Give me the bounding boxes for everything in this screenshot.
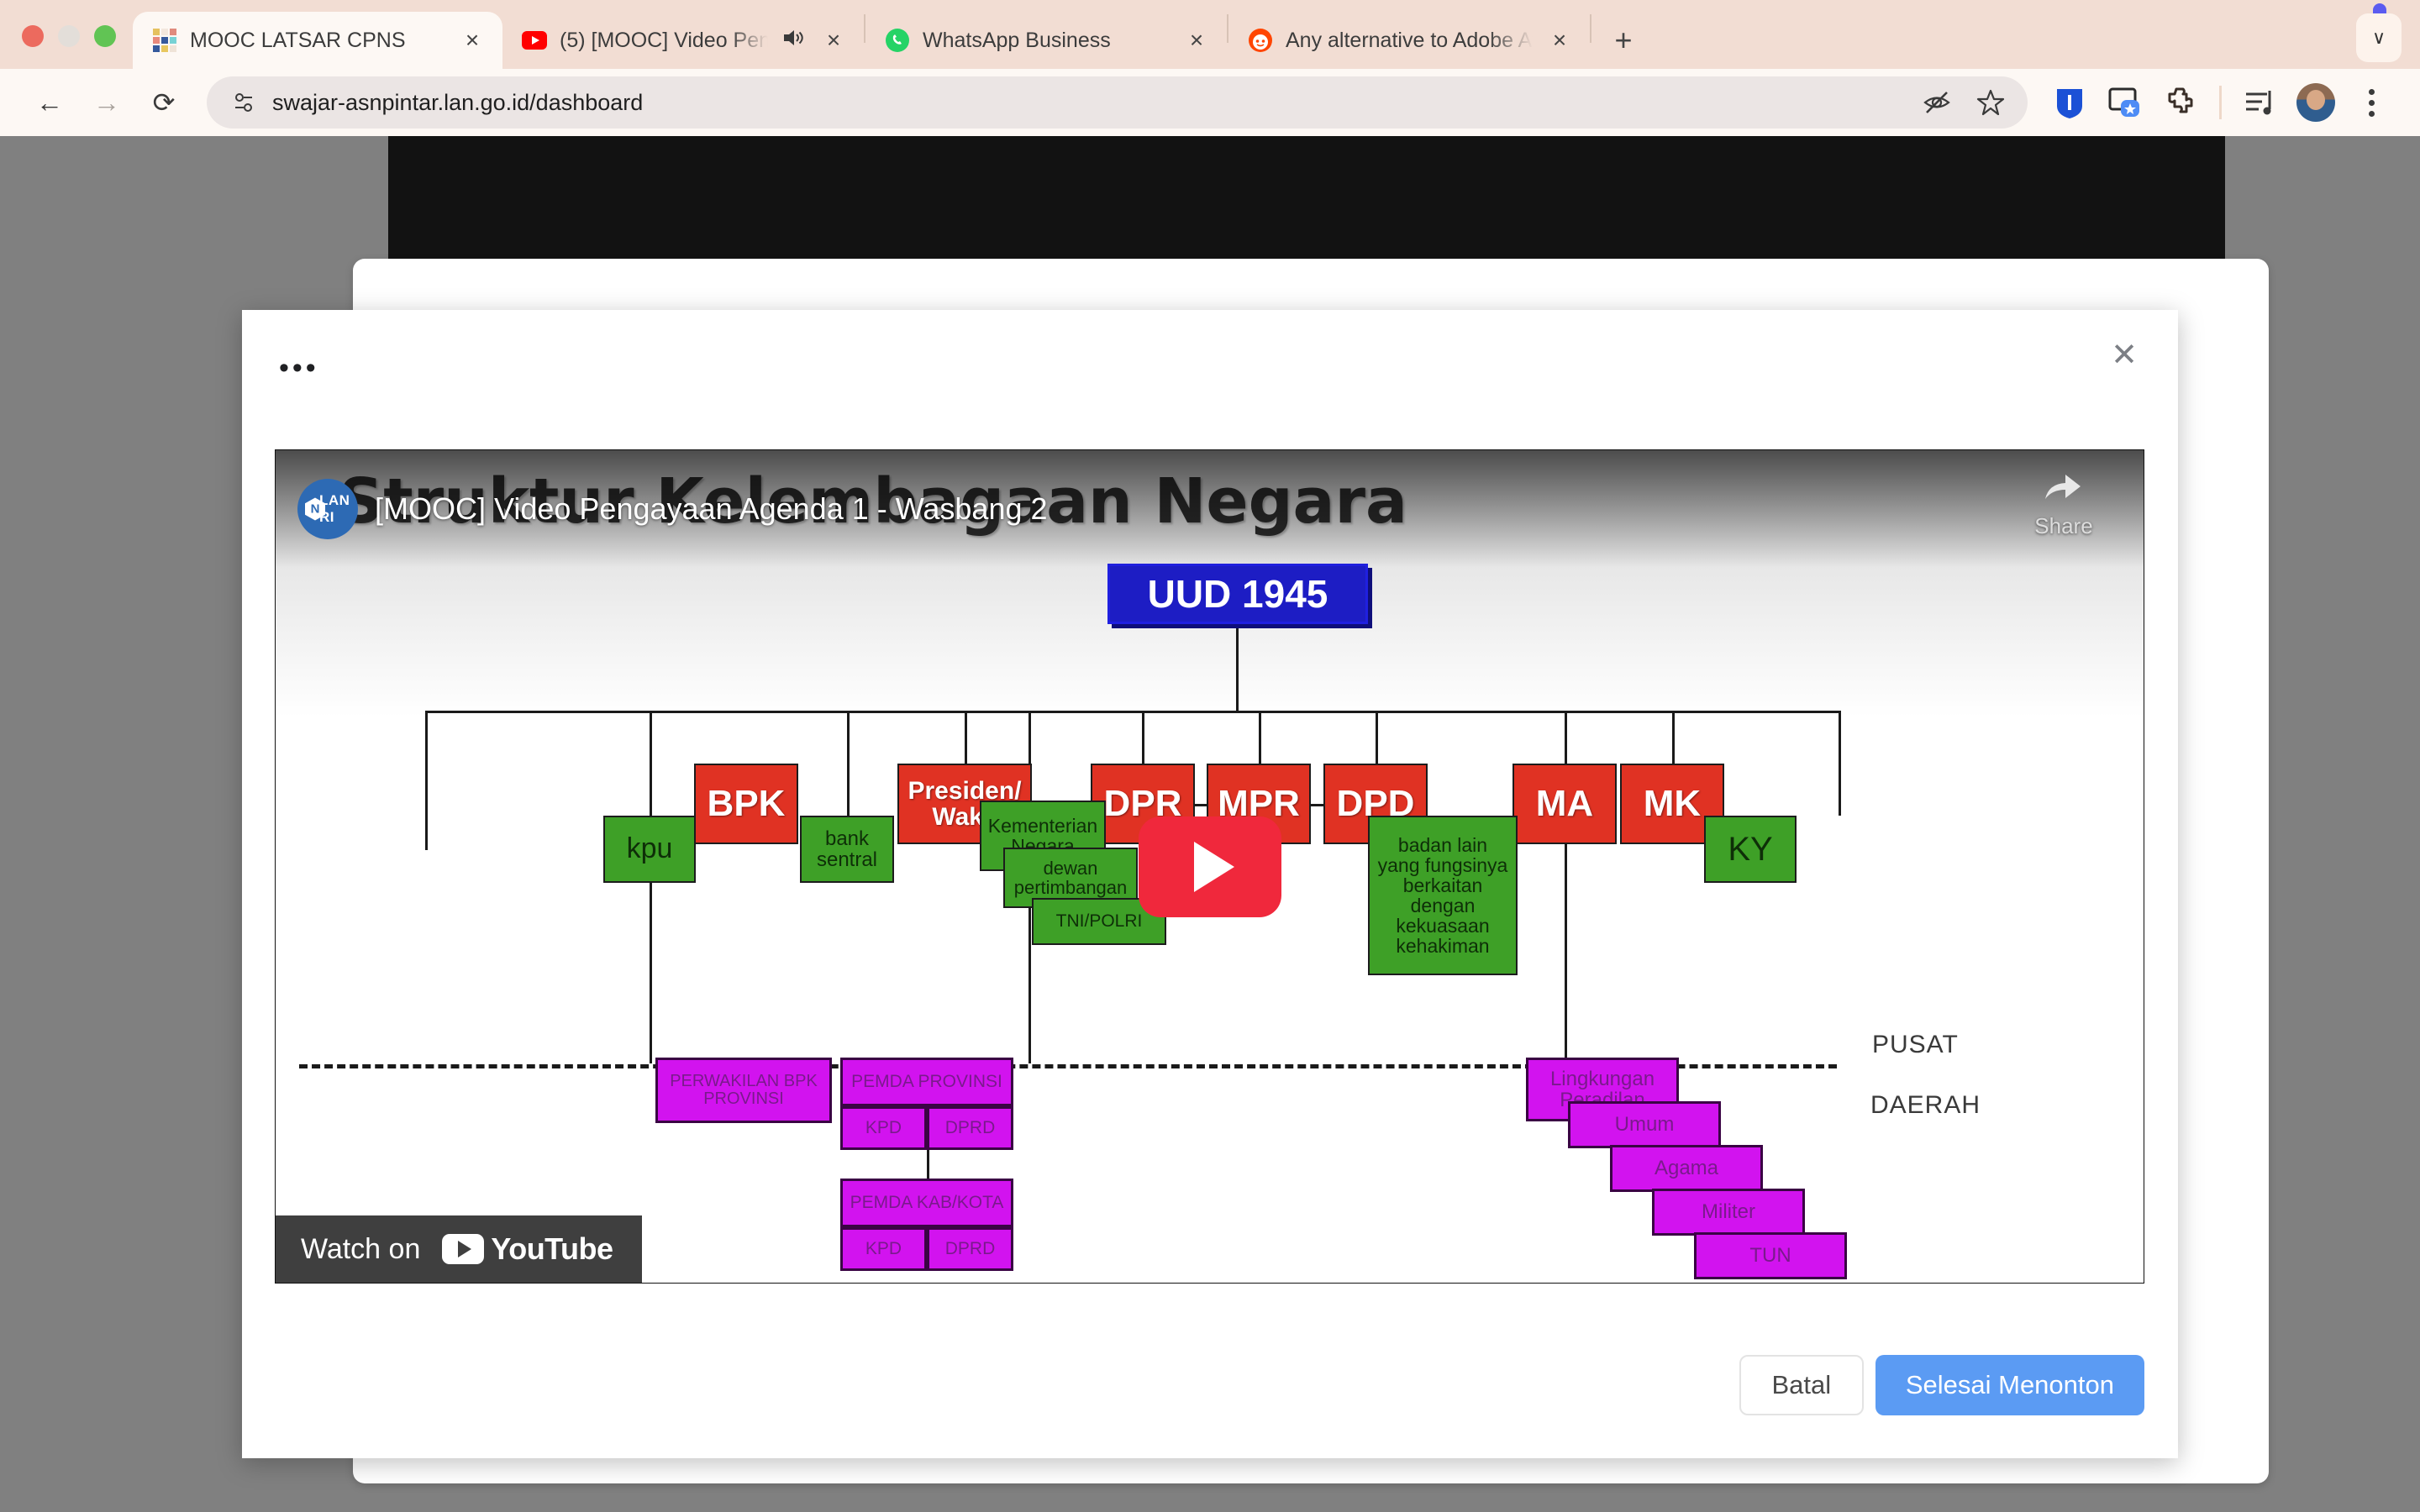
diagram-node-pemdaprov: PEMDA PROVINSI (840, 1058, 1013, 1106)
watch-on-youtube-button[interactable]: Watch on YouTube (276, 1215, 642, 1283)
diagram-node-kab_dprd: DPRD (927, 1227, 1013, 1271)
tab-close-icon[interactable]: × (1544, 25, 1575, 55)
reload-button[interactable]: ⟳ (138, 76, 190, 129)
diagram-label-daerah: DAERAH (1870, 1091, 1981, 1120)
youtube-logo: YouTube (442, 1231, 613, 1267)
share-button[interactable]: Share (2018, 469, 2110, 539)
browser-tab-youtube-video[interactable]: (5) [MOOC] Video Pengay × (502, 12, 864, 69)
media-playlist-icon[interactable] (2235, 77, 2286, 128)
cancel-button[interactable]: Batal (1739, 1355, 1864, 1415)
diagram-node-kab_kpd: KPD (840, 1227, 927, 1271)
share-icon (2042, 469, 2086, 508)
diagram-node-kpu: kpu (603, 816, 696, 883)
finish-watching-button[interactable]: Selesai Menonton (1875, 1355, 2144, 1415)
reddit-favicon (1247, 27, 1274, 54)
diagram-node-umum: Umum (1568, 1101, 1721, 1148)
page-viewport: ••• ✕ Batal Selesai Menonton Struktur Ke… (0, 136, 2420, 1512)
forward-button[interactable]: → (81, 76, 133, 129)
tab-divider (1590, 14, 1591, 43)
tab-close-icon[interactable]: × (818, 25, 849, 55)
diagram-node-prov_kpd: KPD (840, 1106, 927, 1150)
channel-avatar-icon[interactable]: LAN RI (297, 479, 358, 539)
window-maximize-button[interactable] (94, 25, 116, 47)
browser-tab-mooc-latsar[interactable]: MOOC LATSAR CPNS × (133, 12, 502, 69)
share-label: Share (2034, 513, 2092, 539)
pip-star-extension-icon[interactable] (2100, 77, 2150, 128)
video-title[interactable]: [MOOC] Video Pengayaan Agenda 1 - Wasban… (375, 491, 1048, 527)
diagram-node-perwakilan: PERWAKILAN BPK PROVINSI (655, 1058, 832, 1123)
diagram-node-ma: MA (1512, 764, 1617, 844)
site-settings-icon[interactable] (225, 90, 262, 115)
diagram-node-pemdakab: PEMDA KAB/KOTA (840, 1179, 1013, 1227)
tab-close-icon[interactable]: × (457, 25, 487, 55)
page-hero-banner (388, 136, 2225, 267)
diagram-node-militer: Militer (1652, 1189, 1805, 1236)
modal-header: ••• ✕ (242, 310, 2178, 411)
star-icon[interactable] (1967, 79, 2014, 126)
browser-tab-reddit[interactable]: Any alternative to Adobe Afte × (1228, 12, 1590, 69)
watch-on-label: Watch on (301, 1233, 420, 1266)
play-button[interactable] (1139, 816, 1281, 917)
toolbar-divider (2219, 86, 2222, 119)
avatar[interactable] (2291, 77, 2341, 128)
diagram-node-tun: TUN (1694, 1232, 1847, 1279)
back-button[interactable]: ← (24, 76, 76, 129)
state-institutions-diagram: PUSAT DAERAH UUD 1945BPKPresiden/ WakilD… (276, 564, 2144, 1284)
diagram-node-bank: bank sentral (800, 816, 894, 883)
eye-slash-icon[interactable] (1913, 79, 1960, 126)
tab-strip: MOOC LATSAR CPNS × (5) [MOOC] Video Peng… (0, 0, 2420, 69)
close-icon[interactable]: ✕ (2101, 332, 2148, 379)
grid-favicon (151, 27, 178, 54)
modal-footer: Batal Selesai Menonton (242, 1311, 2178, 1458)
diagram-label-pusat: PUSAT (1872, 1031, 1959, 1059)
window-minimize-button[interactable] (58, 25, 80, 47)
window-traffic-lights (22, 25, 133, 69)
browser-tab-whatsapp[interactable]: WhatsApp Business × (865, 12, 1227, 69)
tab-mute-icon[interactable] (780, 28, 807, 53)
address-bar[interactable]: swajar-asnpintar.lan.go.id/dashboard (207, 76, 2028, 129)
tab-search-chevron-down-icon[interactable]: ∨ (2356, 13, 2402, 62)
url-text[interactable]: swajar-asnpintar.lan.go.id/dashboard (272, 90, 1913, 116)
modal-title-placeholder: ••• (279, 354, 319, 382)
new-tab-button[interactable]: + (1600, 17, 1647, 64)
video-title-bar: LAN RI [MOOC] Video Pengayaan Agenda 1 -… (276, 450, 2144, 568)
diagram-node-bpk: BPK (694, 764, 798, 844)
play-triangle-icon (1194, 842, 1234, 892)
window-close-button[interactable] (22, 25, 44, 47)
tab-title: Any alternative to Adobe Afte (1286, 29, 1533, 53)
diagram-node-prov_dprd: DPRD (927, 1106, 1013, 1150)
youtube-wordmark: YouTube (491, 1231, 613, 1267)
diagram-node-ky: KY (1704, 816, 1797, 883)
youtube-favicon (521, 27, 548, 54)
browser-toolbar: ← → ⟳ swajar-asnpintar.lan.go.id/dashboa… (0, 69, 2420, 136)
diagram-node-uud: UUD 1945 (1107, 564, 1368, 624)
tab-title: WhatsApp Business (923, 29, 1170, 53)
diagram-node-agama: Agama (1610, 1145, 1763, 1192)
shield-extension-icon[interactable] (2044, 77, 2095, 128)
youtube-embed-player[interactable]: Struktur Kelembagaan Negara (275, 449, 2144, 1284)
kebab-menu-icon[interactable] (2346, 77, 2396, 128)
tab-close-icon[interactable]: × (1181, 25, 1212, 55)
browser-chrome: MOOC LATSAR CPNS × (5) [MOOC] Video Peng… (0, 0, 2420, 136)
puzzle-extensions-icon[interactable] (2155, 77, 2206, 128)
youtube-play-icon (442, 1234, 484, 1264)
whatsapp-favicon (884, 27, 911, 54)
diagram-node-badanlain: badan lain yang fungsinya berkaitan deng… (1368, 816, 1518, 975)
tab-title: (5) [MOOC] Video Pengay (560, 29, 768, 53)
tab-title: MOOC LATSAR CPNS (190, 29, 445, 53)
